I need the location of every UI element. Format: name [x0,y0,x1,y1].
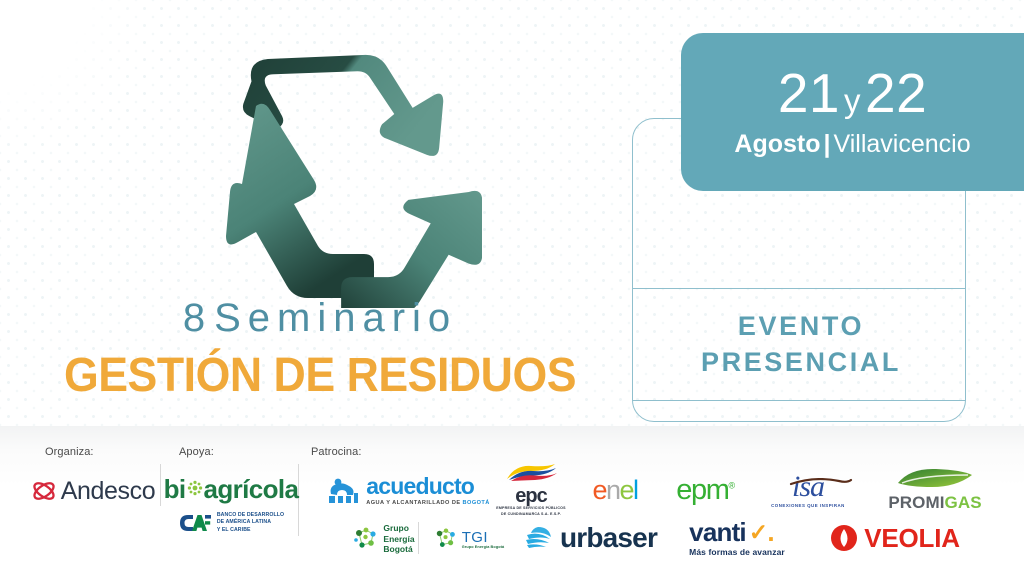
caf-tagline-line2: DE AMÉRICA LATINA [217,519,284,527]
acueducto-icon [325,475,361,505]
isa-wordmark: isa [771,472,845,502]
bioagricola-leaf-icon [187,480,203,496]
event-date-block: 21y22 Agosto|Villavicencio [681,33,1024,191]
epm-registered-mark: ® [728,480,733,490]
acueducto-wordmark: acueducto [366,475,490,498]
month-city-separator: | [821,130,834,158]
recycle-logo [178,18,482,308]
sponsor-enel[interactable]: enel [575,474,655,506]
tgi-molecule-icon [434,527,458,551]
event-mode-line1: EVENTO [738,308,864,344]
event-dates: 21y22 [778,66,927,121]
andesco-wordmark: Andesco [61,477,156,506]
acueducto-tagline-prefix: AGUA Y ALCANTARILLADO DE [366,500,462,506]
urbaser-wordmark: urbaser [560,524,657,552]
veolia-icon [830,524,858,552]
geb-molecule-icon [353,526,379,552]
seminar-subtitle: 8Seminario [0,296,640,341]
event-month: Agosto [734,130,820,158]
caf-tagline-line3: Y EL CARIBE [217,527,284,535]
event-mode-badge: EVENTO PRESENCIAL [637,290,965,398]
sponsor-grupo-energia-bogota[interactable]: Grupo Energía Bogotá [348,520,420,558]
sponsor-epm[interactable]: epm® [665,474,745,506]
epc-wordmark: epc [496,486,566,506]
bioagricola-word-a: bi [164,474,186,505]
event-poster: 8Seminario GESTIÓN DE RESIDUOS 21y22 Ago… [0,0,1024,576]
geb-line1: Grupo [383,523,414,534]
promigas-leaf-icon [894,467,976,489]
corner-fade [0,0,150,150]
acueducto-tagline-city: BOGOTÁ [463,500,490,506]
isa-tagline: CONEXIONES QUE INSPIRAN [771,503,845,508]
tgi-tagline: Grupo Energía Bogotá [462,545,505,549]
divider-organiza-apoya [160,464,161,506]
sponsor-isa[interactable]: isa CONEXIONES QUE INSPIRAN [760,470,856,510]
event-month-city: Agosto|Villavicencio [734,131,970,159]
seminar-number: 8 [183,296,214,340]
seminar-word: Seminario [214,296,457,340]
acueducto-tagline: AGUA Y ALCANTARILLADO DE BOGOTÁ [366,500,490,506]
vanti-tagline: Más formas de avanzar [689,547,785,557]
label-patrocina: Patrocina: [311,446,362,458]
caf-icon [178,513,212,533]
epc-tagline: EMPRESA DE SERVICIOS PÚBLICOS DE CUNDINA… [496,506,566,517]
sponsor-veolia[interactable]: VEOLIA [815,520,975,556]
veolia-wordmark: VEOLIA [864,525,960,551]
andesco-icon [31,479,57,503]
label-apoya: Apoya: [179,446,214,458]
isa-swoosh-icon [789,478,853,486]
epc-flag-icon [503,463,559,481]
promigas-word-b: GAS [945,493,982,512]
date-conjunction: y [840,82,865,119]
promigas-wordmark: PROMIGAS [888,494,981,511]
tgi-wordmark: TGI [462,530,505,545]
sponsor-bioagricola[interactable]: bi agrícola [168,472,294,506]
page-title: GESTIÓN DE RESIDUOS [22,348,617,403]
epc-tagline-line2: DE CUNDINAMARCA S.A. E.S.P. [496,512,566,517]
sponsor-caf[interactable]: BANCO DE DESARROLLO DE AMÉRICA LATINA Y … [168,508,294,538]
sponsor-band: Organiza: Apoya: Patrocina: Andesco bi [0,426,1024,576]
caf-tagline: BANCO DE DESARROLLO DE AMÉRICA LATINA Y … [217,512,284,535]
geb-line3: Bogotá [383,544,414,555]
sponsor-promigas[interactable]: PROMIGAS [875,468,995,510]
label-organiza: Organiza: [45,446,94,458]
vanti-check-icon: ✓ [749,521,767,544]
event-city: Villavicencio [834,130,971,158]
vanti-dot: . [767,519,773,545]
geb-line2: Energía [383,534,414,545]
vanti-wordmark: vanti ✓ . [689,519,785,545]
date-day-second: 22 [865,62,927,124]
enel-wordmark: enel [592,477,637,504]
frame-divider-line [632,288,966,289]
sponsor-vanti[interactable]: vanti ✓ . Más formas de avanzar [672,518,802,558]
event-mode-line2: PRESENCIAL [701,344,901,380]
sponsor-tgi[interactable]: TGI Grupo Energía Bogotá [428,522,510,556]
date-day-first: 21 [778,62,840,124]
epc-tagline-line1: EMPRESA DE SERVICIOS PÚBLICOS [496,506,566,511]
bioagricola-word-b: agrícola [204,474,299,505]
promigas-word-a: PROMI [888,493,944,512]
vanti-text: vanti [689,519,746,545]
epm-wordmark: epm® [676,476,733,505]
frame-tail-line [632,400,966,401]
urbaser-globe-icon [523,525,553,551]
epm-text: epm [676,474,728,506]
sponsor-urbaser[interactable]: urbaser [520,520,660,556]
sponsor-andesco[interactable]: Andesco [30,474,156,508]
sponsor-acueducto[interactable]: acueducto AGUA Y ALCANTARILLADO DE BOGOT… [330,472,485,508]
sponsor-epc[interactable]: epc EMPRESA DE SERVICIOS PÚBLICOS DE CUN… [495,470,567,510]
